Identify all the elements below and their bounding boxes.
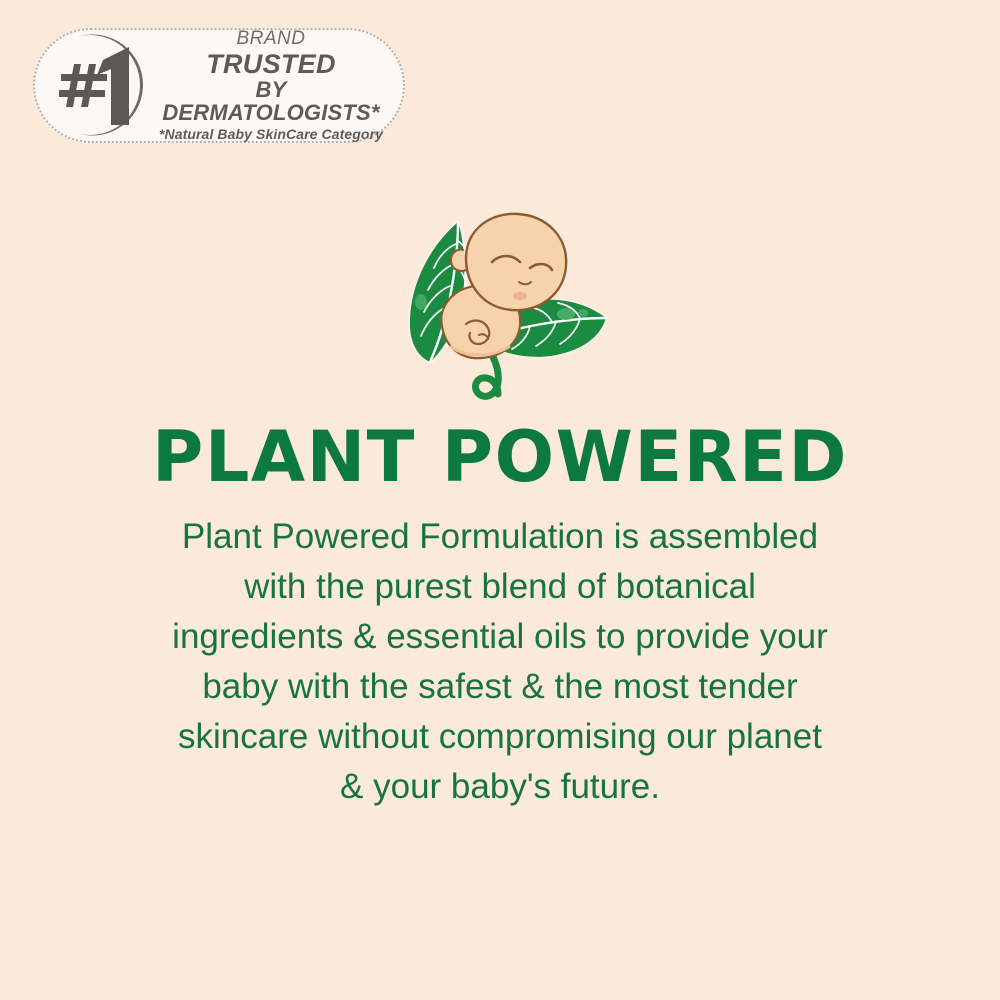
sleeping-baby-on-leaves-logo [380,206,620,406]
body-line: skincare without compromising our planet [105,712,895,762]
badge-line-dermatologists: BY DERMATOLOGISTS* [153,78,389,125]
page-title: PLANT POWERED [0,416,1000,498]
number-one-mark [33,30,153,141]
body-line: ingredients & essential oils to provide … [105,612,895,662]
body-line: with the purest blend of botanical [105,562,895,612]
badge-line-brand: BRAND [153,29,389,49]
badge-text-block: BRAND TRUSTED BY DERMATOLOGISTS* *Natura… [153,29,403,141]
body-paragraph: Plant Powered Formulation is assembled w… [105,512,895,812]
body-line: & your baby's future. [105,762,895,812]
trust-badge: BRAND TRUSTED BY DERMATOLOGISTS* *Natura… [33,28,405,143]
marketing-graphic: BRAND TRUSTED BY DERMATOLOGISTS* *Natura… [0,0,1000,1000]
badge-line-trusted: TRUSTED [153,50,389,79]
body-line: baby with the safest & the most tender [105,662,895,712]
badge-line-footnote: *Natural Baby SkinCare Category [153,127,389,142]
body-line: Plant Powered Formulation is assembled [105,512,895,562]
